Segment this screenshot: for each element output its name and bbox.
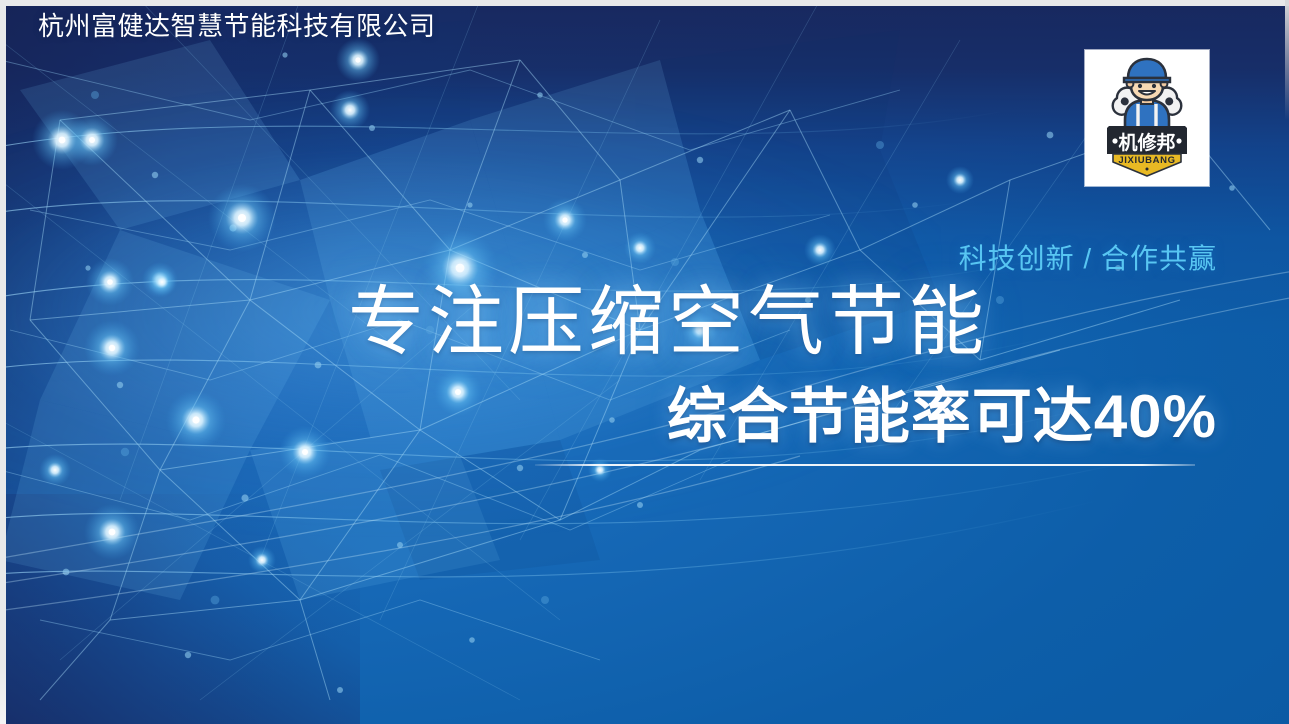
jixiubang-logo[interactable]: 机修邦 JIXIUBANG <box>1085 50 1209 186</box>
promotional-banner: 杭州富健达智慧节能科技有限公司 <box>0 0 1289 724</box>
hero-tagline: 科技创新 / 合作共赢 <box>959 242 1217 276</box>
cap-brim <box>1124 78 1170 82</box>
mechanic-logo-icon: 机修邦 JIXIUBANG <box>1091 56 1203 180</box>
eye-left <box>1138 84 1142 88</box>
cap-shape <box>1128 59 1166 78</box>
logo-pinyin-text: JIXIUBANG <box>1118 155 1175 166</box>
hero-divider <box>535 464 1195 466</box>
company-name: 杭州富健达智慧节能科技有限公司 <box>38 10 436 42</box>
hero-subheadline: 综合节能率可达40% <box>667 383 1217 451</box>
hero-headline: 专注压缩空气节能 <box>348 280 988 366</box>
star-right-icon <box>1176 138 1181 143</box>
star-left-icon <box>1112 138 1117 143</box>
eye-right <box>1152 84 1156 88</box>
logo-cn-text: 机修邦 <box>1118 131 1175 154</box>
